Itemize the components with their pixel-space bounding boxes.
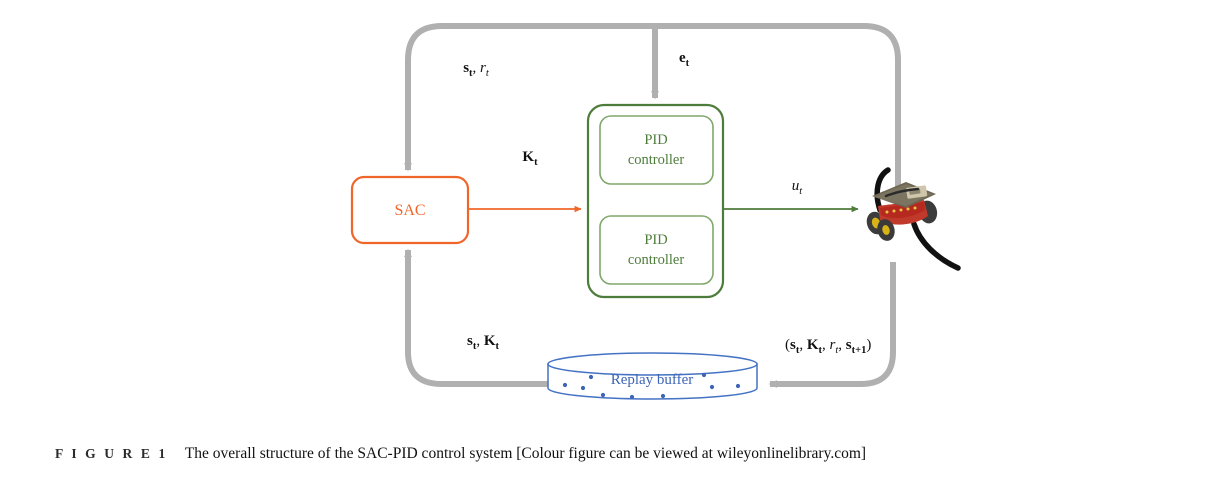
pid-bottom-line1: PID <box>644 232 667 248</box>
sac-node[interactable]: SAC <box>352 177 468 243</box>
replay-buffer-node[interactable]: Replay buffer <box>548 353 757 399</box>
sac-label: SAC <box>394 202 425 219</box>
pid-top-line1: PID <box>644 132 667 148</box>
pid-controller-top[interactable]: PID controller <box>600 116 713 184</box>
replay-buffer-label: Replay buffer <box>611 372 694 388</box>
label-state-reward: st, rt <box>463 60 490 79</box>
pid-controller-bottom[interactable]: PID controller <box>600 216 713 284</box>
figure-caption: F I G U R E 1The overall structure of th… <box>55 444 1175 465</box>
label-gains: Kt <box>522 149 538 168</box>
label-state-gain: st, Kt <box>467 333 500 352</box>
label-error: et <box>679 50 690 69</box>
label-transition: (st, Kt, rt, st+1) <box>785 337 871 356</box>
figure-page: SAC PID controller PID controller <box>0 0 1224 504</box>
pid-top-line2: controller <box>628 152 685 168</box>
sac-pid-diagram: SAC PID controller PID controller <box>0 0 1224 430</box>
figure-label: F I G U R E 1 <box>55 446 168 461</box>
feedback-path-sample <box>408 250 548 384</box>
label-control: ut <box>792 178 804 197</box>
feedback-path-transition <box>770 262 893 384</box>
mobile-robot <box>864 170 958 268</box>
pid-block[interactable]: PID controller PID controller <box>588 105 723 297</box>
pid-bottom-line2: controller <box>628 252 685 268</box>
figure-caption-text: The overall structure of the SAC-PID con… <box>185 445 866 462</box>
